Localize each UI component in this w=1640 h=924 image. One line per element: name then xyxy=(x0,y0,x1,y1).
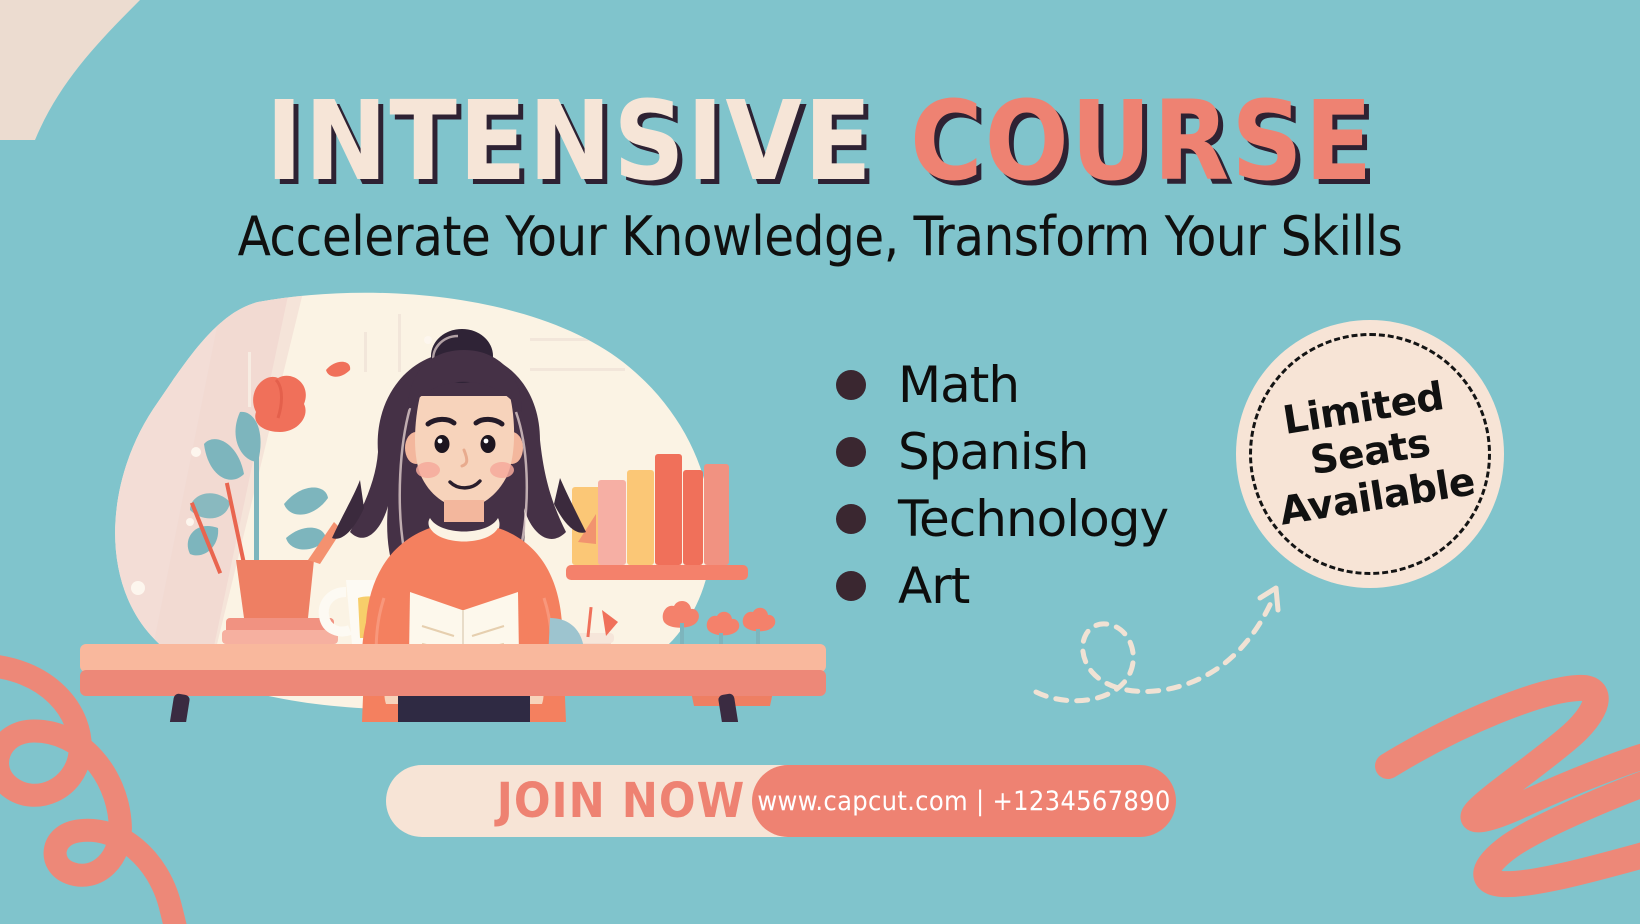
illustration-girl-reading xyxy=(78,292,828,722)
bullet-dot-icon xyxy=(836,571,866,601)
contact-label: www.capcut.com | +1234567890 xyxy=(757,788,1170,815)
course-label: Technology xyxy=(898,494,1168,544)
status-badge: Limited Seats Available xyxy=(1236,320,1504,588)
desk xyxy=(80,644,826,722)
title-space xyxy=(874,77,910,205)
course-label: Spanish xyxy=(898,427,1088,477)
cta-bar: JOIN NOW www.capcut.com | +1234567890 xyxy=(386,765,1176,837)
coral-zigzag-decoration xyxy=(1370,660,1640,924)
join-now-label: JOIN NOW xyxy=(497,777,745,825)
bullet-dot-icon xyxy=(836,504,866,534)
course-label: Math xyxy=(898,360,1019,410)
list-item[interactable]: Math xyxy=(836,360,1216,410)
title-word-intensive: INTENSIVE xyxy=(266,77,874,205)
course-list: Math Spanish Technology Art xyxy=(836,360,1216,628)
contact-pill[interactable]: www.capcut.com | +1234567890 xyxy=(752,765,1176,837)
bullet-dot-icon xyxy=(836,437,866,467)
page-title: INTENSIVE COURSE xyxy=(0,86,1640,196)
list-item[interactable]: Art xyxy=(836,561,1216,611)
bullet-dot-icon xyxy=(836,370,866,400)
course-label: Art xyxy=(898,561,969,611)
list-item[interactable]: Technology xyxy=(836,494,1216,544)
banner-canvas: INTENSIVE COURSE Accelerate Your Knowled… xyxy=(0,0,1640,924)
page-subtitle: Accelerate Your Knowledge, Transform You… xyxy=(0,206,1640,268)
title-word-course: COURSE xyxy=(910,77,1374,205)
list-item[interactable]: Spanish xyxy=(836,427,1216,477)
